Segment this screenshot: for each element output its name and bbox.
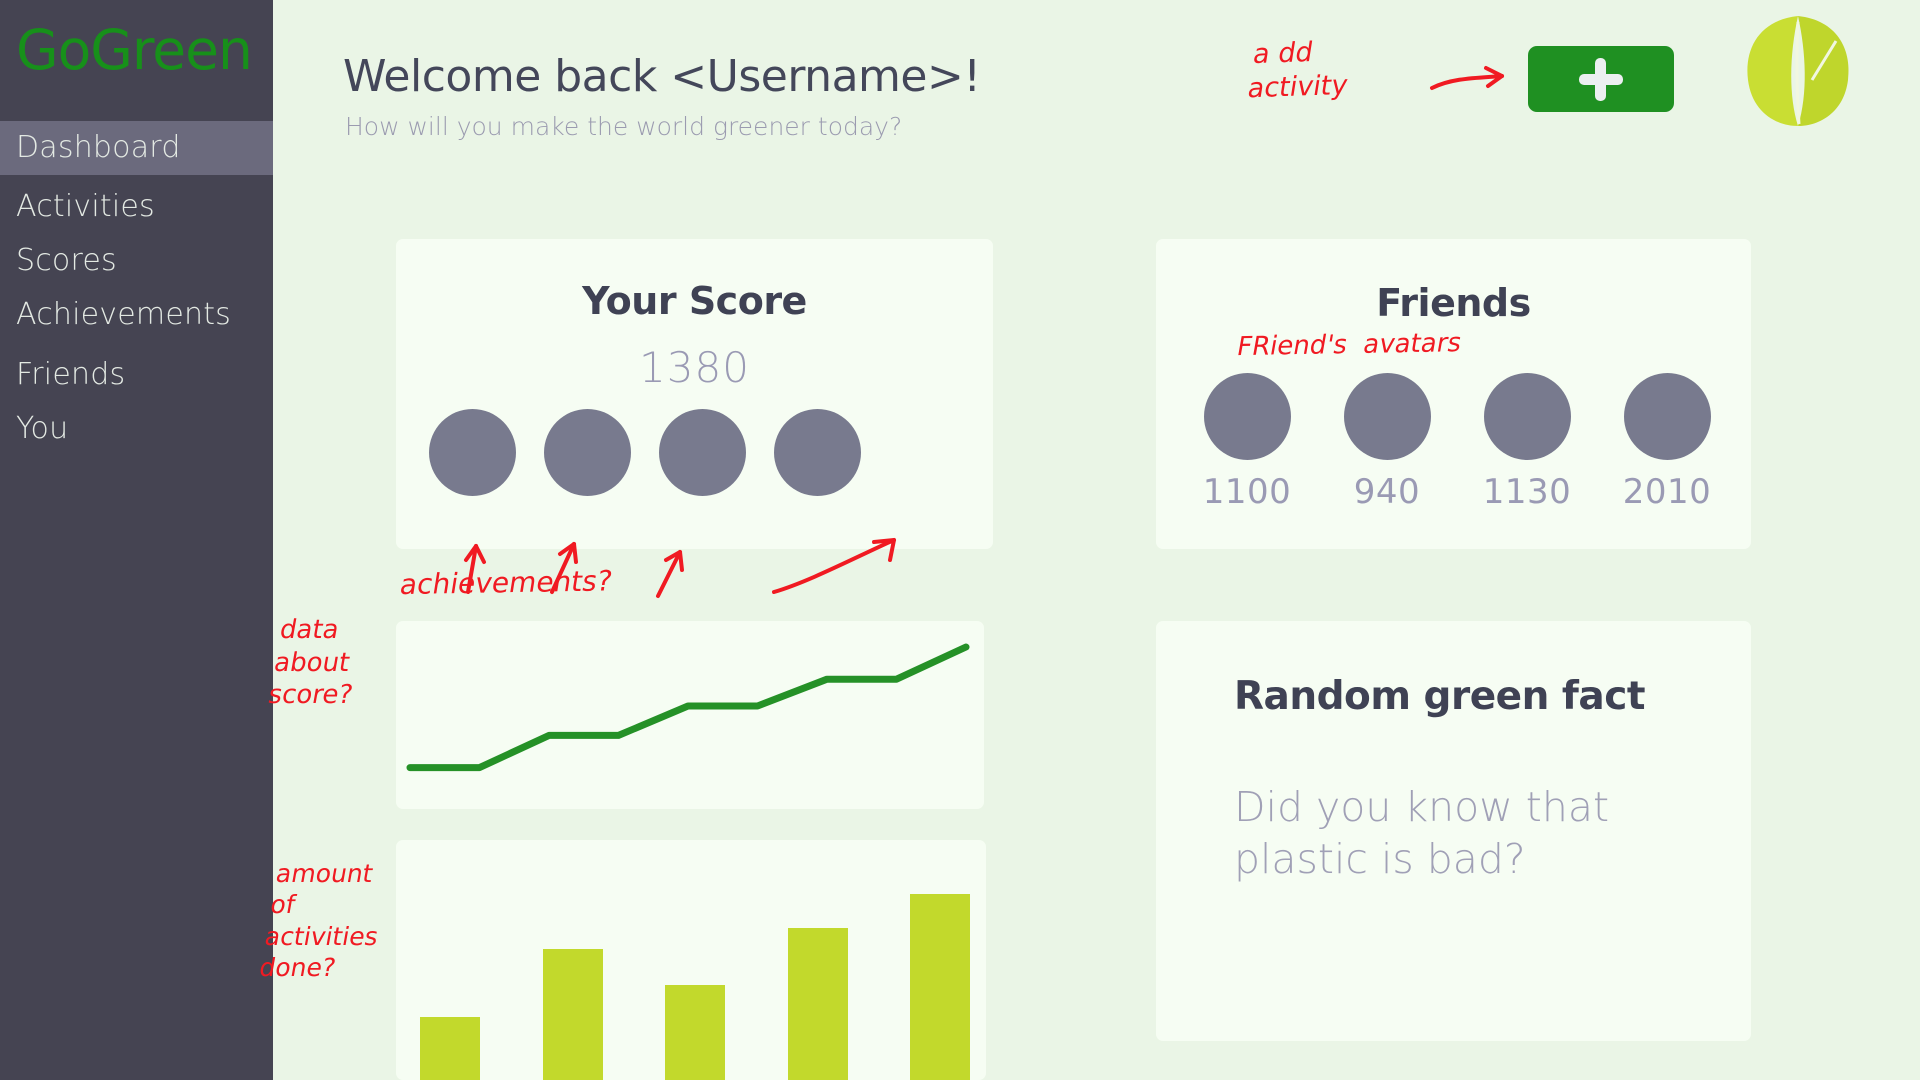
sidebar-item-label: You [16,411,68,446]
sidebar-item-achievements[interactable]: Achievements [0,288,273,342]
score-value: 1380 [396,343,993,392]
sidebar-item-label: Activities [16,189,155,224]
bar-chart-bar [788,928,848,1080]
bar-chart-bar [420,1017,480,1080]
achievement-avatar[interactable] [544,409,631,496]
annotation-activities-amount: amount of activities done? [257,858,392,983]
annotation-achievements: achievements? [397,563,614,602]
sidebar: GoGreen Dashboard Activities Scores Achi… [0,0,273,1080]
bar-chart-bar [910,894,970,1080]
score-line-chart-card [396,621,984,809]
score-card-title: Your Score [396,279,993,323]
sidebar-item-activities[interactable]: Activities [0,180,273,234]
friend-avatar[interactable] [1624,373,1711,460]
score-line-chart [396,621,984,809]
friend-score: 1100 [1187,472,1307,512]
brand-logo-text: GoGreen [16,18,252,82]
annotation-friends-avatars: FRiend's avatars [1234,327,1464,364]
achievement-avatar[interactable] [429,409,516,496]
page-subtitle: How will you make the world greener toda… [345,112,902,141]
plus-icon-stem [1595,58,1606,101]
friend-item[interactable]: 2010 [1607,373,1727,512]
sidebar-item-label: Scores [16,243,117,278]
sidebar-item-label: Dashboard [16,130,181,165]
friend-score: 1130 [1467,472,1587,512]
friend-avatar[interactable] [1204,373,1291,460]
add-activity-button[interactable] [1528,46,1674,112]
fact-card-body: Did you know that plastic is bad? [1234,781,1694,886]
friend-score: 2010 [1607,472,1727,512]
random-fact-card: Random green fact Did you know that plas… [1156,621,1751,1041]
activities-bar-chart-card [396,840,986,1080]
achievement-avatar[interactable] [774,409,861,496]
score-card: Your Score 1380 [396,239,993,549]
page-title: Welcome back <Username>! [343,51,980,102]
bar-chart-bar [543,949,603,1080]
sidebar-item-label: Friends [16,357,125,392]
friends-card: Friends 1100 940 1130 2010 [1156,239,1751,549]
sidebar-item-friends[interactable]: Friends [0,348,273,402]
friend-item[interactable]: 1100 [1187,373,1307,512]
friend-score: 940 [1327,472,1447,512]
sidebar-item-scores[interactable]: Scores [0,234,273,288]
sidebar-item-label: Achievements [16,297,231,332]
activities-bar-chart [396,840,986,1080]
sidebar-item-you[interactable]: You [0,402,273,456]
fact-card-title: Random green fact [1234,674,1645,719]
leaf-logo-icon [1724,8,1874,128]
sidebar-item-dashboard[interactable]: Dashboard [0,121,273,175]
annotation-score-data: data about score? [266,614,367,712]
bar-chart-bar [665,985,725,1080]
friend-avatar[interactable] [1344,373,1431,460]
friends-card-title: Friends [1156,281,1751,325]
achievement-avatar[interactable] [659,409,746,496]
friend-item[interactable]: 1130 [1467,373,1587,512]
friend-avatar[interactable] [1484,373,1571,460]
friend-item[interactable]: 940 [1327,373,1447,512]
annotation-add-activity: a dd activity [1245,35,1355,106]
annotation-arrow-add-activity [1430,60,1540,110]
